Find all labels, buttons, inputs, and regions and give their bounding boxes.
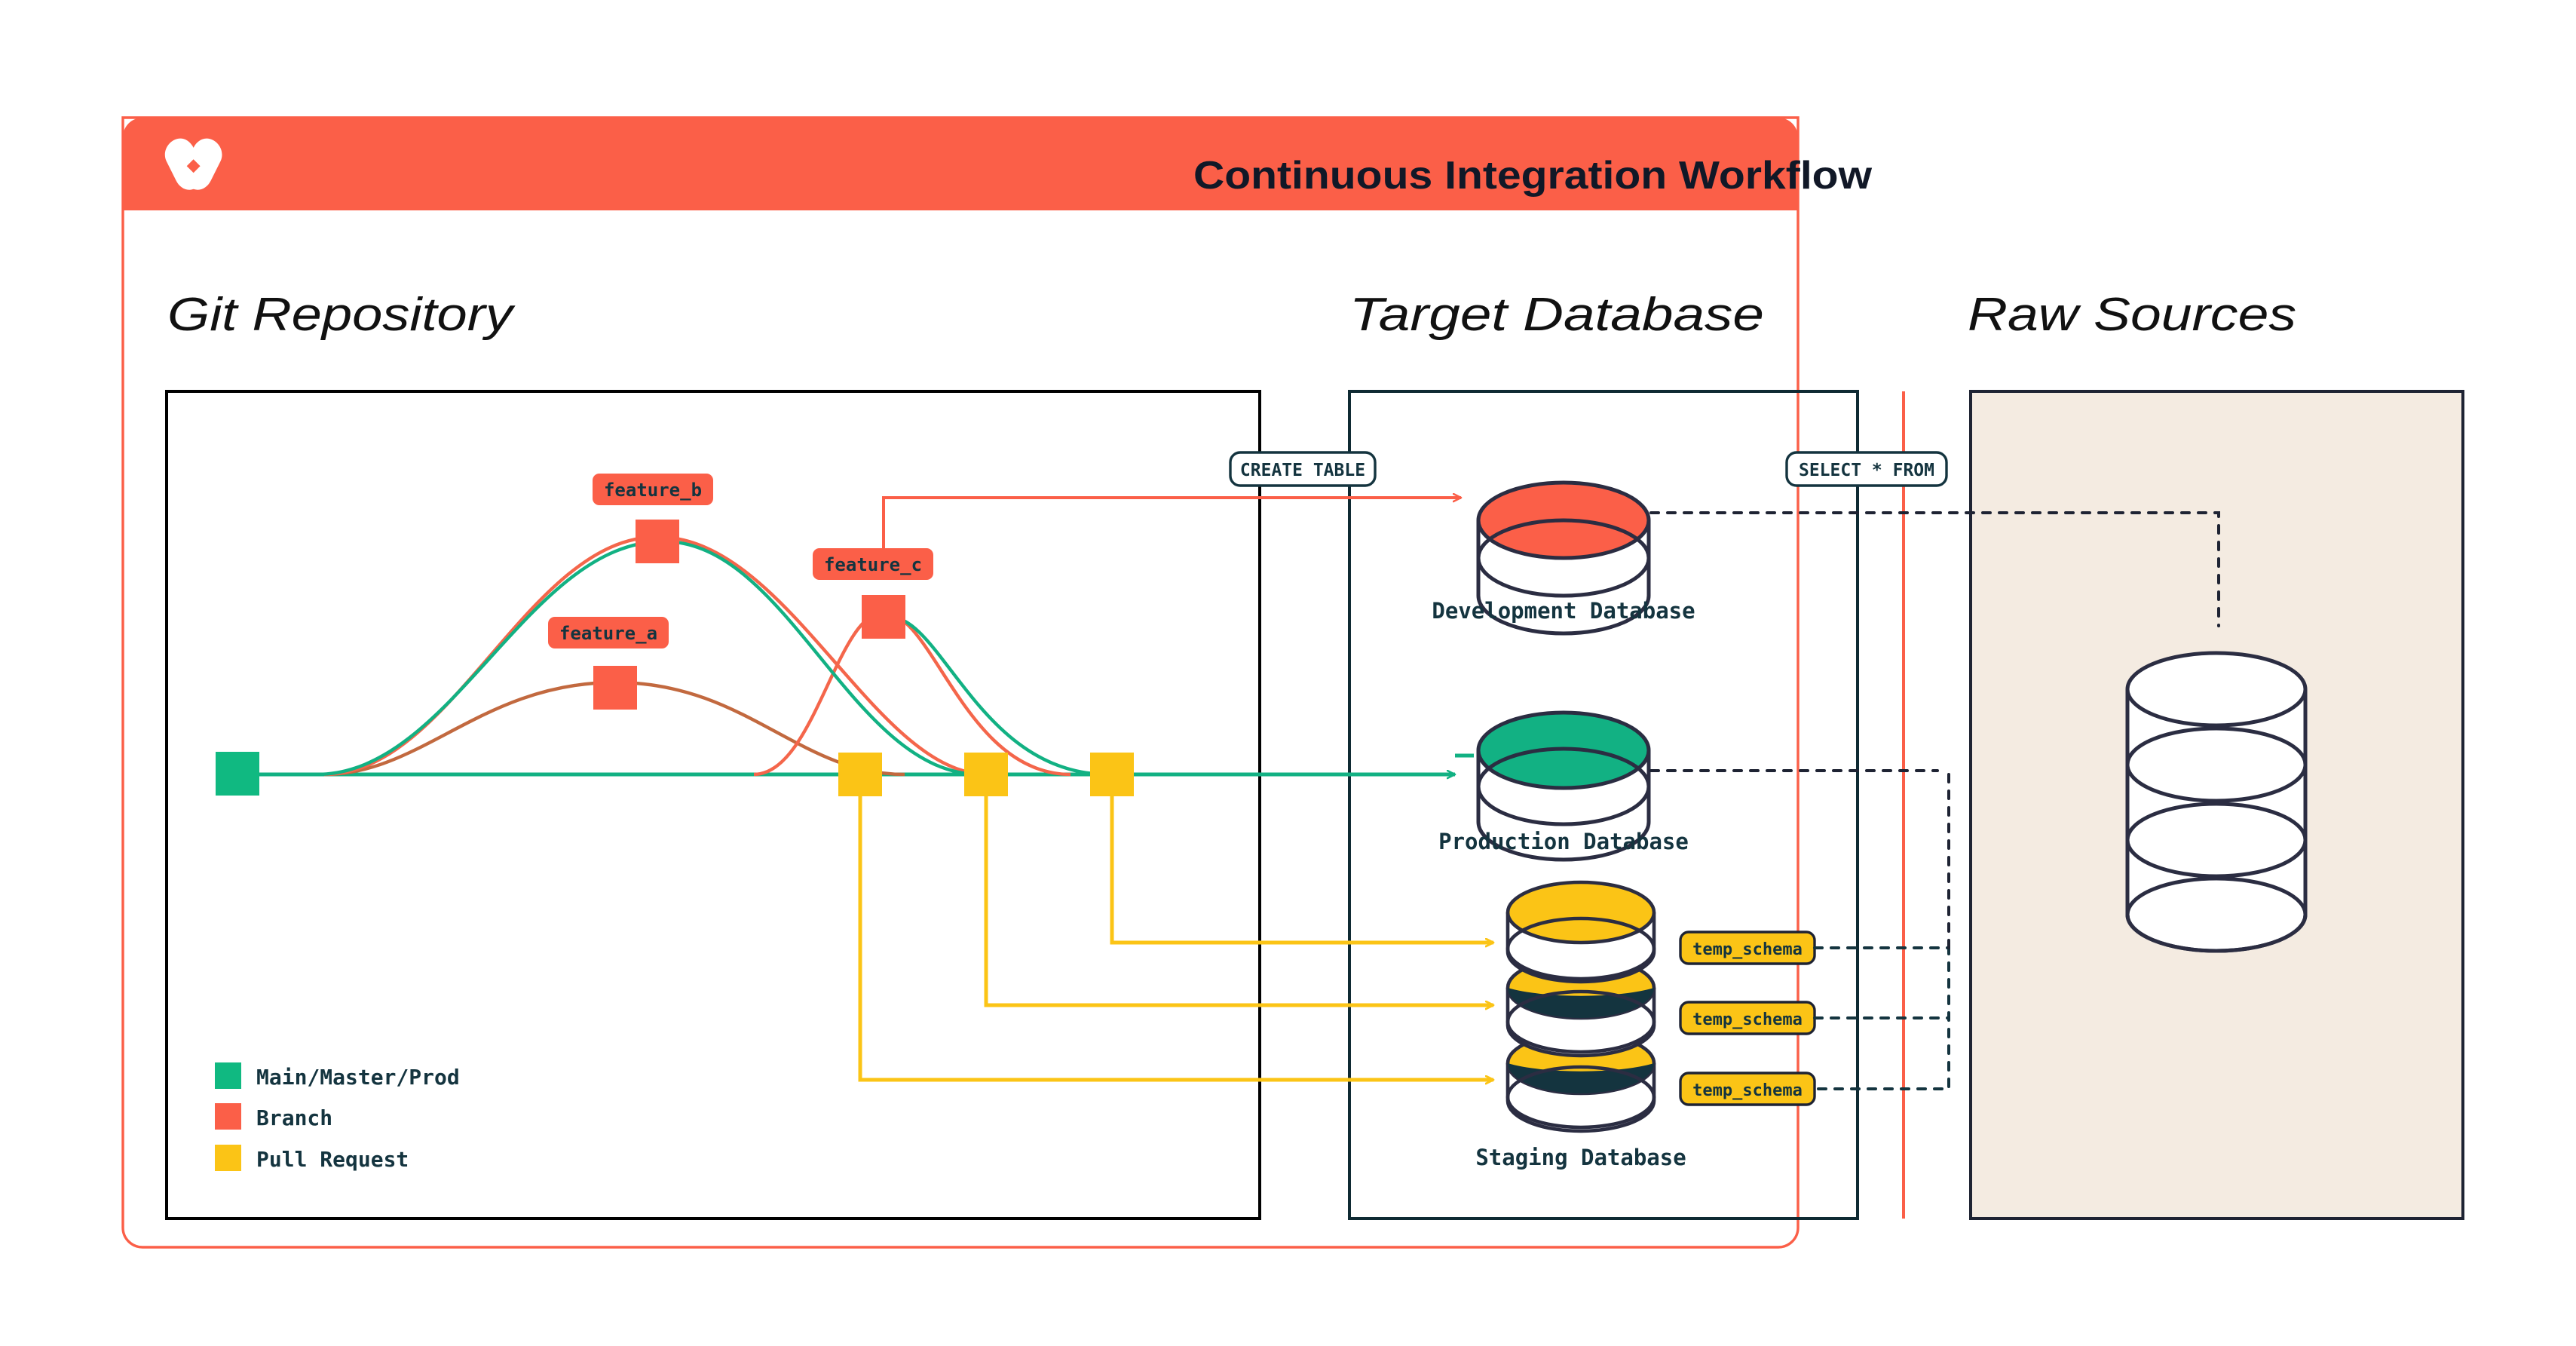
schema-badge-text: temp_schema	[1692, 1010, 1803, 1029]
schema-badge-3[interactable]: temp_schema	[1680, 1073, 1815, 1105]
ci-workflow-diagram: Continuous Integration Workflow Git Repo…	[0, 0, 2576, 1346]
section-heading-git-repository: Git Repository	[167, 289, 516, 341]
pr-node-3[interactable]	[1090, 753, 1134, 796]
raw-sources-cylinder[interactable]	[2127, 653, 2305, 951]
pr-node-2[interactable]	[964, 753, 1008, 796]
page-title: Continuous Integration Workflow	[1193, 154, 1873, 198]
badge-select-from[interactable]: SELECT * FROM	[1787, 452, 1947, 486]
branch-label-feature-b[interactable]: feature_b	[593, 474, 713, 505]
branch-label-text: feature_b	[604, 480, 702, 501]
staging-database-label: Staging Database	[1475, 1145, 1686, 1170]
legend-swatch-branch	[215, 1103, 241, 1130]
schema-badge-2[interactable]: temp_schema	[1680, 1002, 1815, 1034]
commit-node-main[interactable]	[216, 752, 259, 796]
commit-node-feature-b[interactable]	[636, 520, 679, 563]
branch-label-text: feature_a	[559, 623, 657, 644]
badge-create-table[interactable]: CREATE TABLE	[1230, 452, 1375, 486]
branch-label-feature-c[interactable]: feature_c	[813, 548, 933, 580]
section-heading-target-database: Target Database	[1349, 289, 1764, 341]
legend-swatch-pr	[215, 1145, 241, 1171]
legend-swatch-main	[215, 1062, 241, 1089]
section-heading-raw-sources: Raw Sources	[1968, 289, 2296, 341]
development-database-label: Development Database	[1432, 598, 1695, 624]
schema-badge-1[interactable]: temp_schema	[1680, 932, 1815, 964]
legend-label-pr: Pull Request	[256, 1147, 409, 1172]
schema-badge-text: temp_schema	[1692, 1081, 1803, 1100]
schema-badge-text: temp_schema	[1692, 940, 1803, 959]
badge-select-from-text: SELECT * FROM	[1799, 461, 1934, 480]
staging-database-top	[1508, 882, 1654, 943]
branch-label-feature-a[interactable]: feature_a	[548, 617, 669, 648]
pr-node-1[interactable]	[838, 753, 882, 796]
commit-node-feature-c[interactable]	[862, 595, 905, 639]
production-database-label: Production Database	[1438, 829, 1689, 854]
legend-label-branch: Branch	[256, 1105, 332, 1130]
legend-label-main: Main/Master/Prod	[256, 1065, 460, 1090]
commit-node-feature-a[interactable]	[593, 666, 637, 710]
badge-create-table-text: CREATE TABLE	[1240, 461, 1365, 480]
diagram-root: Continuous Integration Workflow Git Repo…	[0, 0, 2576, 1346]
branch-label-text: feature_c	[824, 554, 922, 575]
